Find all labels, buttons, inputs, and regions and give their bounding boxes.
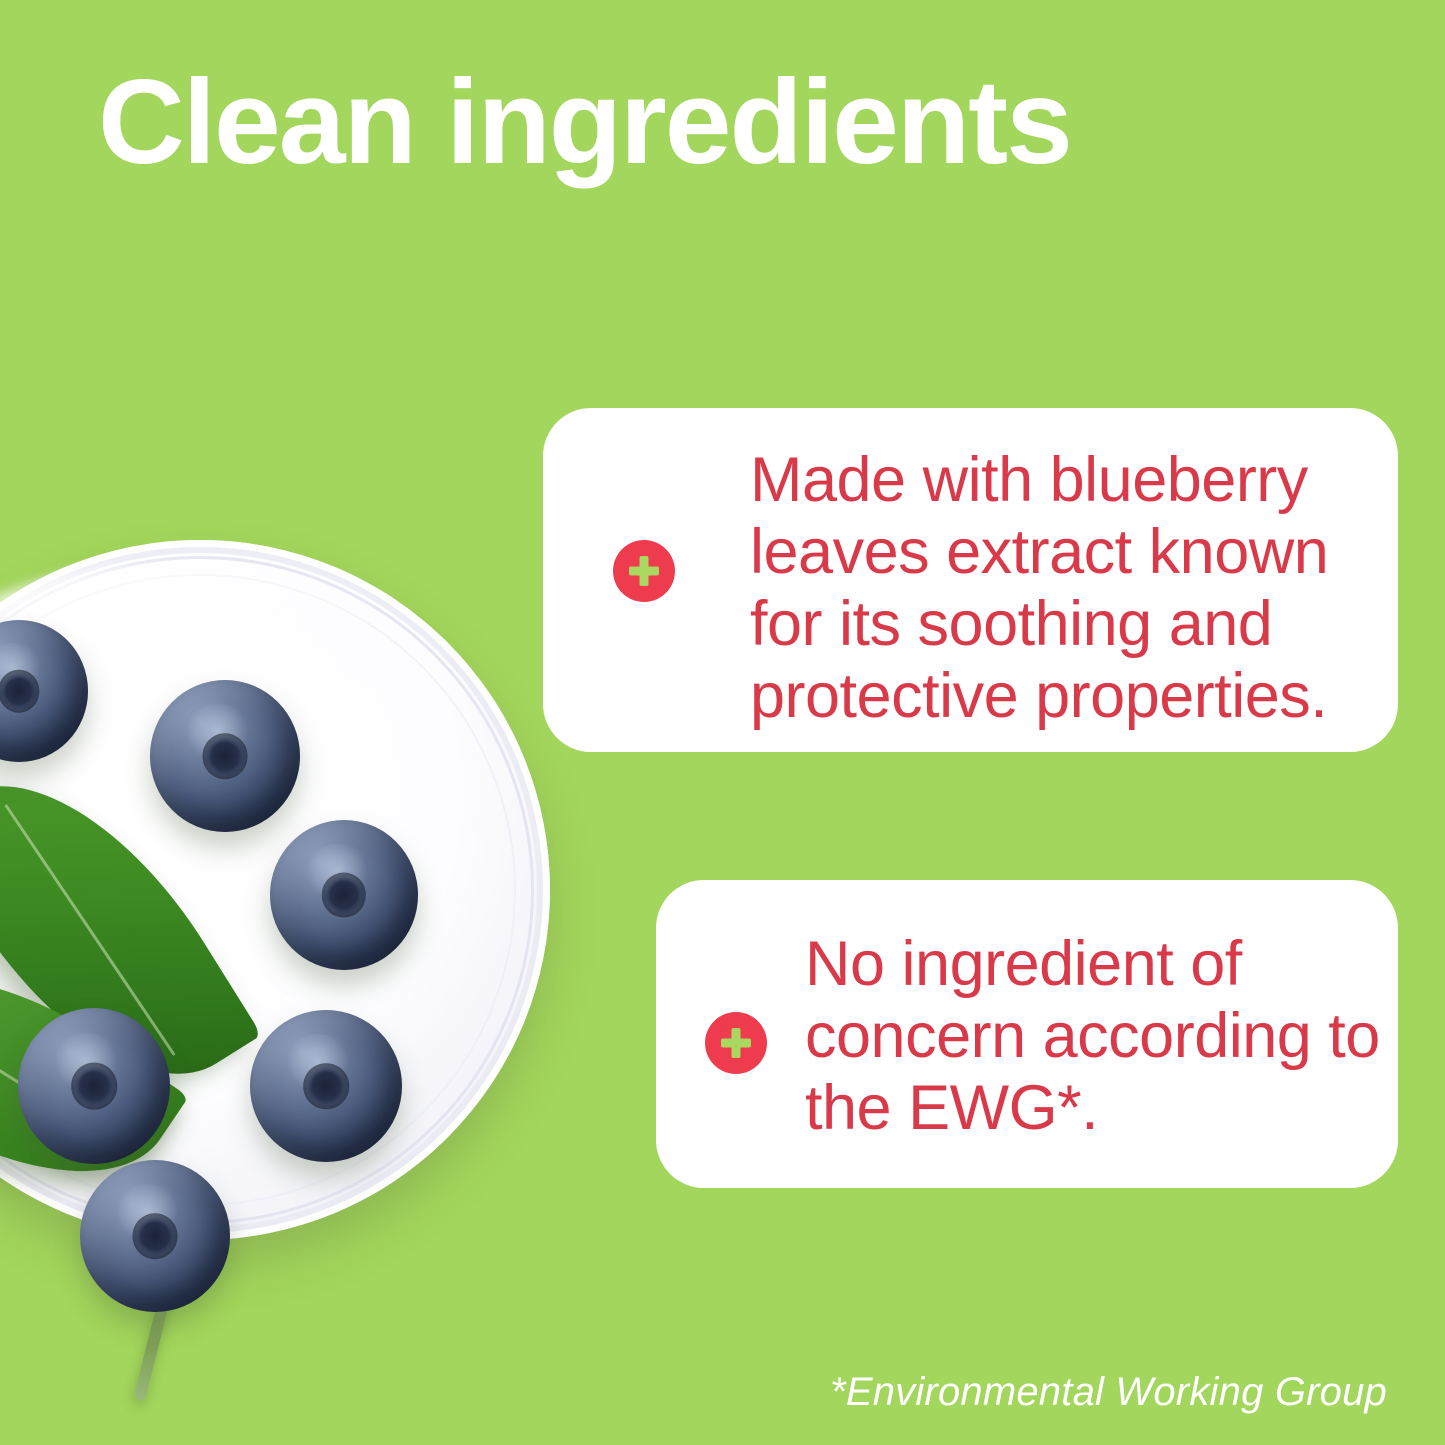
page-title: Clean ingredients — [98, 62, 1071, 182]
blueberry-bloom — [303, 844, 371, 898]
footnote: *Environmental Working Group — [830, 1370, 1387, 1415]
callout-card-ewg: No ingredient of concern according to th… — [656, 880, 1398, 1188]
blueberry — [80, 1160, 230, 1312]
blueberry — [270, 820, 418, 970]
blueberry — [250, 1010, 402, 1162]
blueberry — [150, 680, 300, 832]
blueberry — [18, 1008, 170, 1164]
callout-text: Made with blueberry leaves extract known… — [750, 444, 1370, 732]
blueberry-bloom — [51, 1033, 121, 1089]
plus-in-circle-icon — [705, 1012, 767, 1074]
plus-icon-vertical-bar — [640, 556, 649, 586]
blueberry-bloom — [283, 1034, 353, 1089]
callout-text: No ingredient of concern according to th… — [805, 928, 1385, 1144]
promo-image: Clean ingredients Made with blueberry le… — [0, 0, 1445, 1445]
blueberry-bloom — [113, 1184, 182, 1239]
blueberry-bloom — [0, 643, 44, 694]
blueberry-bloom — [183, 704, 252, 759]
callout-card-ingredient: Made with blueberry leaves extract known… — [543, 408, 1398, 752]
plus-in-circle-icon — [613, 540, 675, 602]
plus-icon-vertical-bar — [732, 1028, 741, 1058]
blueberry-petri-dish-photo — [0, 520, 570, 1340]
